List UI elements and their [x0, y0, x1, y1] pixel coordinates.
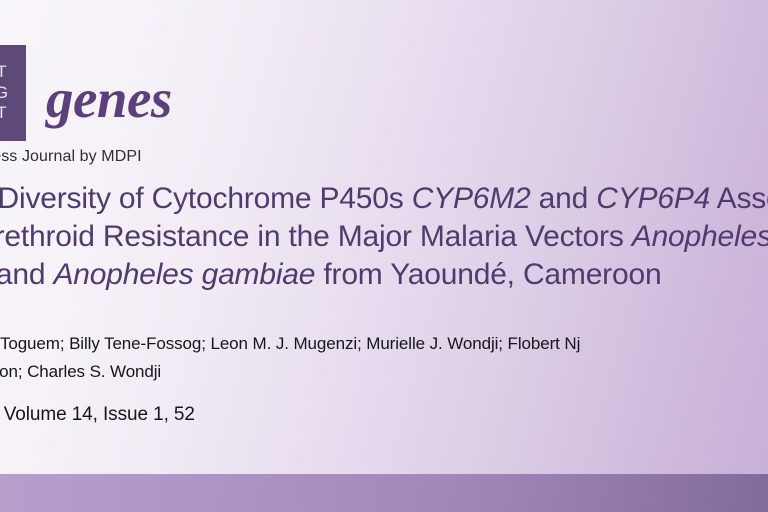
journal-article-banner: T G T genes ccess Journal by MDPI tic Di… — [0, 0, 768, 512]
article-title: tic Diversity of Cytochrome P450s CYP6M2… — [0, 180, 768, 294]
title-italic-term: CYP6M2 — [412, 182, 531, 215]
title-text: tic Diversity of Cytochrome P450s — [0, 182, 412, 215]
article-title-line-2: Pyrethroid Resistance in the Major Malar… — [0, 218, 768, 256]
title-italic-term: Anopheles — [632, 220, 768, 253]
logo-letter-1: T — [0, 62, 8, 83]
logo-letter-3: T — [0, 103, 8, 124]
journal-tagline: ccess Journal by MDPI — [0, 148, 142, 166]
article-title-line-3: zii and Anopheles gambiae from Yaoundé, … — [0, 256, 768, 294]
title-text: Pyrethroid Resistance in the Major Malar… — [0, 220, 632, 253]
author-list: tso-Toguem; Billy Tene-Fossog; Leon M. J… — [0, 330, 768, 386]
title-italic-term: CYP6P4 — [596, 182, 710, 215]
citation-details: , Volume 14, Issue 1, 52 — [0, 404, 195, 425]
journal-wordmark: genes — [46, 67, 172, 130]
title-text: and — [0, 258, 53, 291]
title-italic-term: Anopheles gambiae — [53, 258, 315, 291]
article-title-line-1: tic Diversity of Cytochrome P450s CYP6M2… — [0, 180, 768, 218]
logo-letter-2: G — [0, 83, 9, 104]
author-line-2: anson; Charles S. Wondji — [0, 358, 768, 386]
genes-logo-icon: T G T — [0, 45, 26, 141]
title-text: and — [531, 182, 597, 215]
footer-accent-bar — [0, 474, 768, 512]
citation-line: 023, Volume 14, Issue 1, 52 — [0, 404, 195, 426]
title-text: Associ — [710, 182, 768, 215]
title-text: from Yaoundé, Cameroon — [315, 258, 661, 291]
author-line-1: tso-Toguem; Billy Tene-Fossog; Leon M. J… — [0, 330, 768, 358]
